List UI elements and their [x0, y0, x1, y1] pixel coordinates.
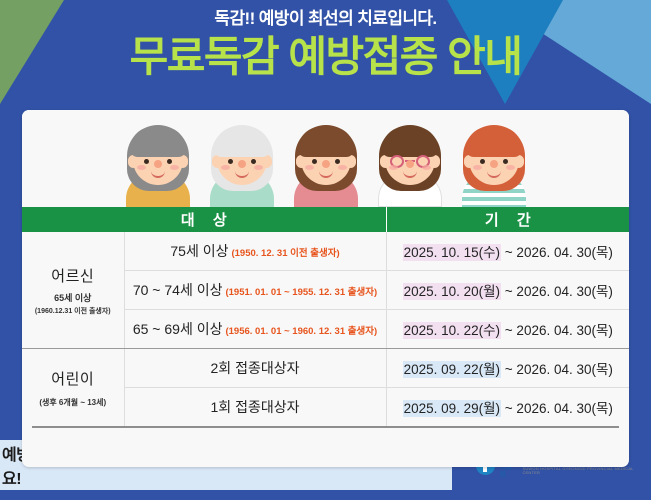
target-main: 75세 이상 — [170, 243, 228, 259]
period-start: 2025. 10. 20(월) — [403, 283, 501, 300]
period-start: 2025. 10. 22(수) — [403, 322, 501, 339]
target-cell: 2회 접종대상자 — [124, 349, 386, 388]
period-cell: 2025. 10. 15(수) ~ 2026. 04. 30(목) — [386, 232, 629, 271]
group-name: 어르신 — [26, 265, 120, 286]
target-cell: 1회 접종대상자 — [124, 388, 386, 427]
target-note: (1956. 01. 01 ~ 1960. 12. 31 출생자) — [225, 326, 377, 337]
target-main: 2회 접종대상자 — [211, 360, 300, 376]
target-cell: 75세 이상(1950. 12. 31 이전 출생자) — [124, 232, 386, 271]
target-main: 65 ~ 69세 이상 — [133, 321, 223, 337]
target-main: 70 ~ 74세 이상 — [133, 282, 223, 298]
period-start: 2025. 10. 15(수) — [403, 244, 501, 261]
period-cell: 2025. 10. 22(수) ~ 2026. 04. 30(목) — [386, 310, 629, 349]
group-subtitle-birth: (1960.12.31 이전 출생자) — [26, 306, 120, 316]
group-subtitle-age: 65세 이상 — [26, 291, 120, 304]
group-cell-children: 어린이 (생후 6개월 ~ 13세) — [22, 349, 124, 427]
logo-org-line2: 의료원 — [500, 465, 518, 479]
table-bottom-rule — [32, 426, 619, 428]
target-note: (1950. 12. 31 이전 출생자) — [231, 248, 339, 259]
poster-header: 독감!! 예방이 최선의 치료입니다. 무료독감 예방접종 안내 — [0, 0, 651, 104]
period-start: 2025. 09. 22(월) — [403, 361, 501, 378]
target-cell: 65 ~ 69세 이상(1956. 01. 01 ~ 1960. 12. 31 … — [124, 310, 386, 349]
table-header-row: 대 상 기 간 — [22, 207, 629, 232]
person-elderly-man — [121, 119, 195, 207]
period-rest: ~ 2026. 04. 30(목) — [501, 284, 613, 299]
column-header-period: 기 간 — [386, 207, 629, 232]
period-start: 2025. 09. 29(월) — [403, 400, 501, 417]
target-cell: 70 ~ 74세 이상(1951. 01. 01 ~ 1955. 12. 31 … — [124, 271, 386, 310]
vaccination-schedule-table: 대 상 기 간 어르신 65세 이상 (1960.12.31 이전 출생자) 7… — [22, 207, 629, 426]
logo-tagline: SUWON HOSPITAL GYEONGGI PROVINCIAL MEDIC… — [522, 467, 651, 475]
people-illustration — [22, 110, 629, 207]
target-main: 1회 접종대상자 — [211, 399, 300, 415]
group-cell-elderly: 어르신 65세 이상 (1960.12.31 이전 출생자) — [22, 232, 124, 349]
period-rest: ~ 2026. 04. 30(목) — [501, 245, 613, 260]
person-adult-woman — [289, 119, 363, 207]
period-cell: 2025. 09. 29(월) ~ 2026. 04. 30(목) — [386, 388, 629, 427]
period-rest: ~ 2026. 04. 30(목) — [501, 401, 613, 416]
person-boy-with-glasses — [373, 119, 447, 207]
period-cell: 2025. 10. 20(월) ~ 2026. 04. 30(목) — [386, 271, 629, 310]
target-note: (1951. 01. 01 ~ 1955. 12. 31 출생자) — [225, 287, 377, 298]
group-name: 어린이 — [26, 368, 120, 389]
group-subtitle-age-range: (생후 6개월 ~ 13세) — [26, 397, 120, 408]
period-cell: 2025. 09. 22(월) ~ 2026. 04. 30(목) — [386, 349, 629, 388]
table-row: 어린이 (생후 6개월 ~ 13세) 2회 접종대상자 2025. 09. 22… — [22, 349, 629, 388]
column-header-target: 대 상 — [22, 207, 386, 232]
person-girl-striped-shirt — [457, 119, 531, 207]
period-rest: ~ 2026. 04. 30(목) — [501, 323, 613, 338]
content-card: 대 상 기 간 어르신 65세 이상 (1960.12.31 이전 출생자) 7… — [22, 110, 629, 467]
poster-root: 독감!! 예방이 최선의 치료입니다. 무료독감 예방접종 안내 — [0, 0, 651, 500]
period-rest: ~ 2026. 04. 30(목) — [501, 362, 613, 377]
header-kicker: 독감!! 예방이 최선의 치료입니다. — [0, 0, 651, 29]
page-title: 무료독감 예방접종 안내 — [0, 29, 651, 84]
person-elderly-woman — [205, 119, 279, 207]
table-row: 어르신 65세 이상 (1960.12.31 이전 출생자) 75세 이상(19… — [22, 232, 629, 271]
